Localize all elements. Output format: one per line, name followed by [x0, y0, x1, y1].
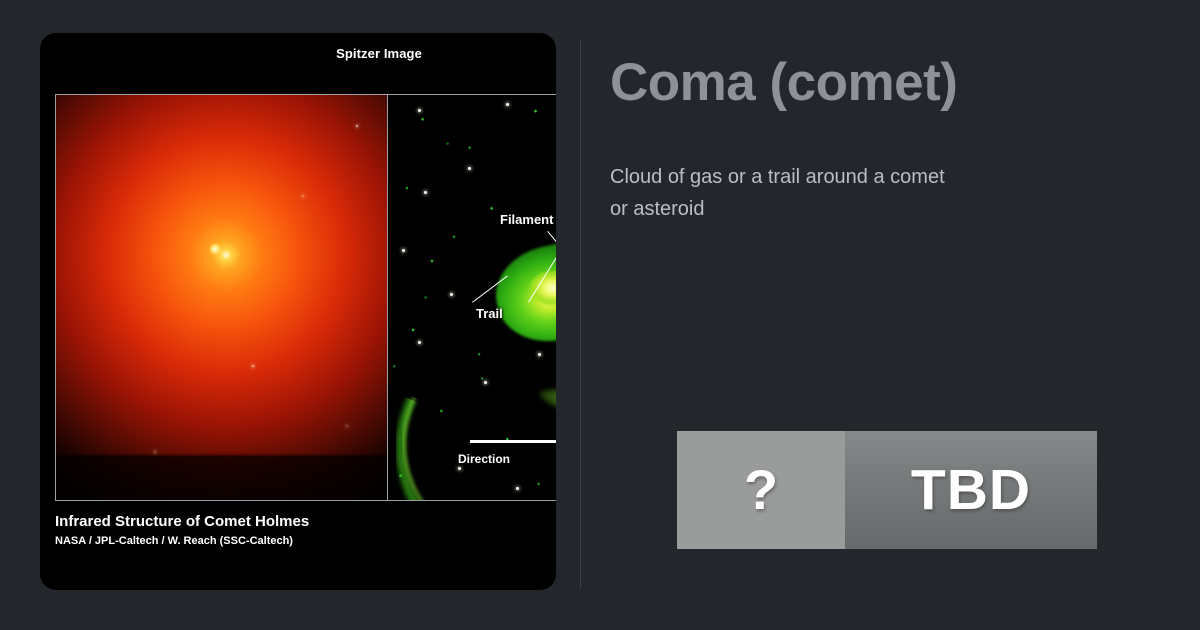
- tbd-badge-label-section: TBD: [845, 431, 1097, 549]
- infrared-coma-panel: [56, 95, 388, 500]
- star-speck: [516, 487, 519, 490]
- star-speck: [450, 293, 453, 296]
- image-panels: Filament Trail Direction: [55, 94, 556, 501]
- coma-glow: [56, 95, 388, 455]
- star-speck: [302, 195, 304, 197]
- trail-label: Trail: [476, 306, 503, 321]
- star-speck: [468, 167, 471, 170]
- star-speck: [154, 451, 156, 453]
- scale-bar: [470, 440, 556, 443]
- page-title: Coma (comet): [610, 55, 1150, 111]
- star-speck: [458, 467, 461, 470]
- caption-credit: NASA / JPL-Caltech / W. Reach (SSC-Calte…: [55, 534, 309, 548]
- star-speck: [506, 103, 509, 106]
- star-speck: [484, 381, 487, 384]
- star-speck: [538, 353, 541, 356]
- caption-block: Infrared Structure of Comet Holmes NASA …: [55, 513, 309, 548]
- caption-title: Infrared Structure of Comet Holmes: [55, 513, 309, 532]
- green-structure-panel: Filament Trail Direction: [388, 95, 556, 500]
- page-subtitle: Cloud of gas or a trail around a comet o…: [610, 161, 950, 225]
- direction-label: Direction: [458, 452, 510, 466]
- star-speck: [356, 125, 358, 127]
- tbd-badge[interactable]: ? TBD: [677, 431, 1097, 549]
- vertical-divider: [580, 40, 581, 588]
- tbd-badge-question-section: ?: [677, 431, 845, 549]
- star-speck: [418, 109, 421, 112]
- coma-nucleus: [209, 243, 221, 255]
- star-speck: [346, 425, 348, 427]
- star-speck: [418, 341, 421, 344]
- filament-label: Filament: [500, 212, 553, 227]
- info-column: Coma (comet) Cloud of gas or a trail aro…: [610, 40, 1150, 225]
- media-card[interactable]: Spitzer Image: [40, 33, 556, 590]
- star-speck: [402, 249, 405, 252]
- figure-top-label: Spitzer Image: [55, 46, 556, 61]
- tbd-label: TBD: [911, 462, 1031, 519]
- caption-row: Infrared Structure of Comet Holmes NASA …: [55, 513, 556, 548]
- star-speck: [424, 191, 427, 194]
- question-mark-icon: ?: [744, 462, 778, 518]
- star-speck: [252, 365, 254, 367]
- figure-inner: Spitzer Image: [40, 33, 556, 590]
